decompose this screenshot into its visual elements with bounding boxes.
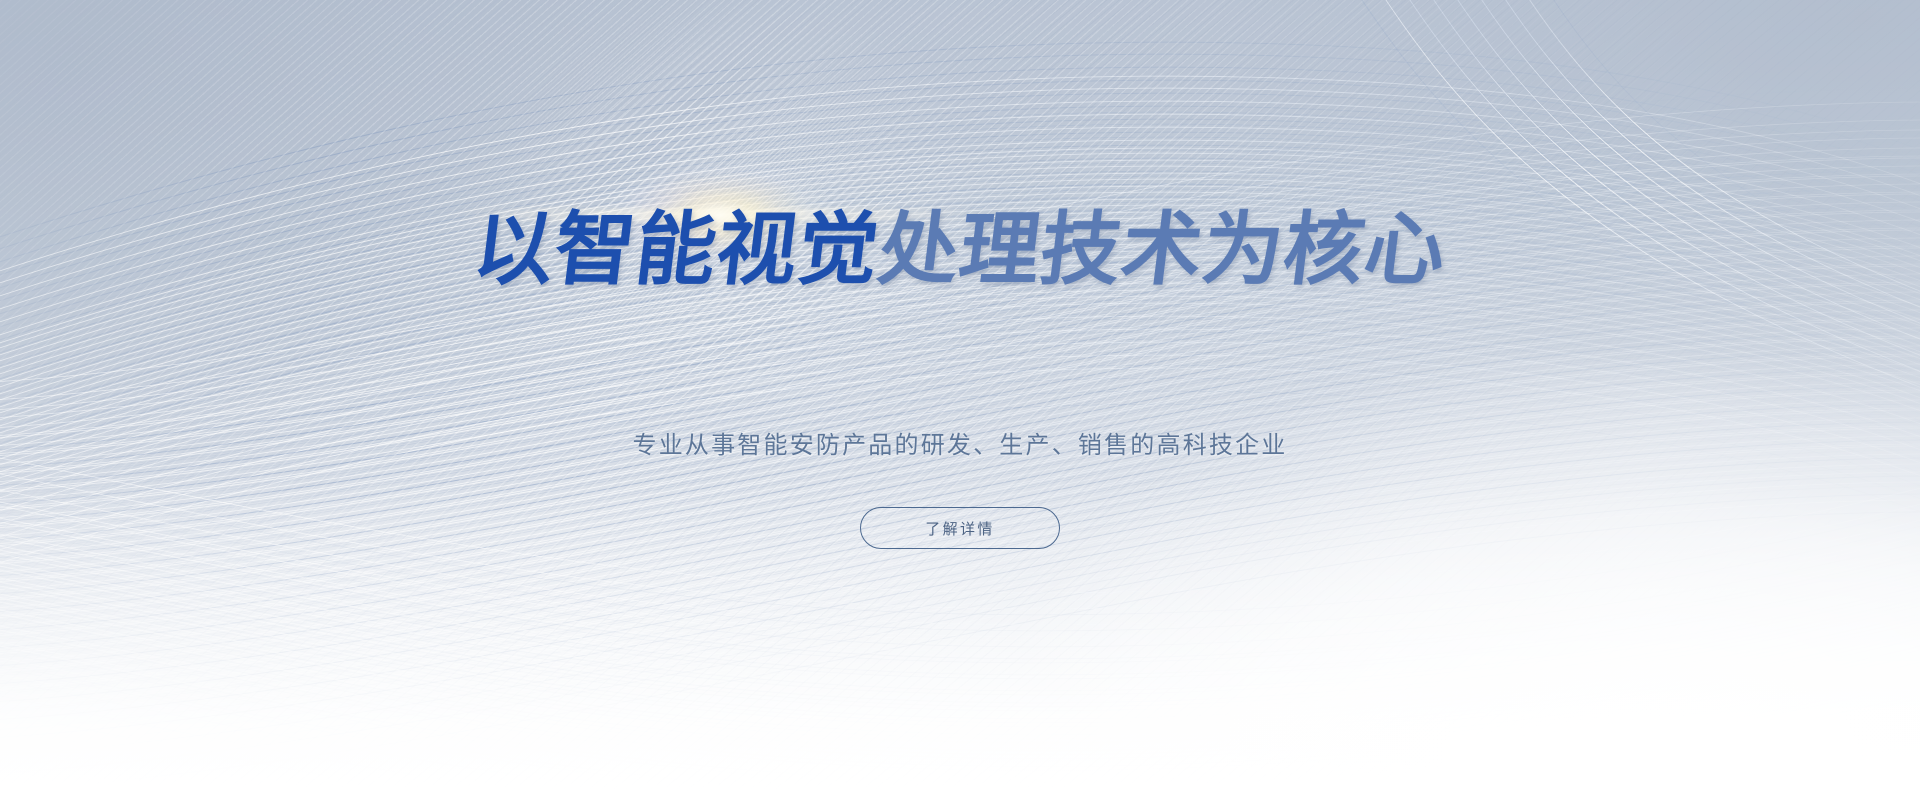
headline-emphasis: 以智能视觉 (468, 203, 884, 296)
page-subtitle: 专业从事智能安防产品的研发、生产、销售的高科技企业 (633, 425, 1288, 460)
page-title: 以智能视觉处理技术为核心 (469, 208, 1451, 292)
learn-more-button[interactable]: 了解详情 (860, 507, 1060, 549)
hero-banner: 以智能视觉处理技术为核心 专业从事智能安防产品的研发、生产、销售的高科技企业 了… (0, 0, 1920, 800)
banner-content: 以智能视觉处理技术为核心 专业从事智能安防产品的研发、生产、销售的高科技企业 了… (0, 0, 1920, 800)
headline-rest: 处理技术为核心 (873, 203, 1451, 296)
